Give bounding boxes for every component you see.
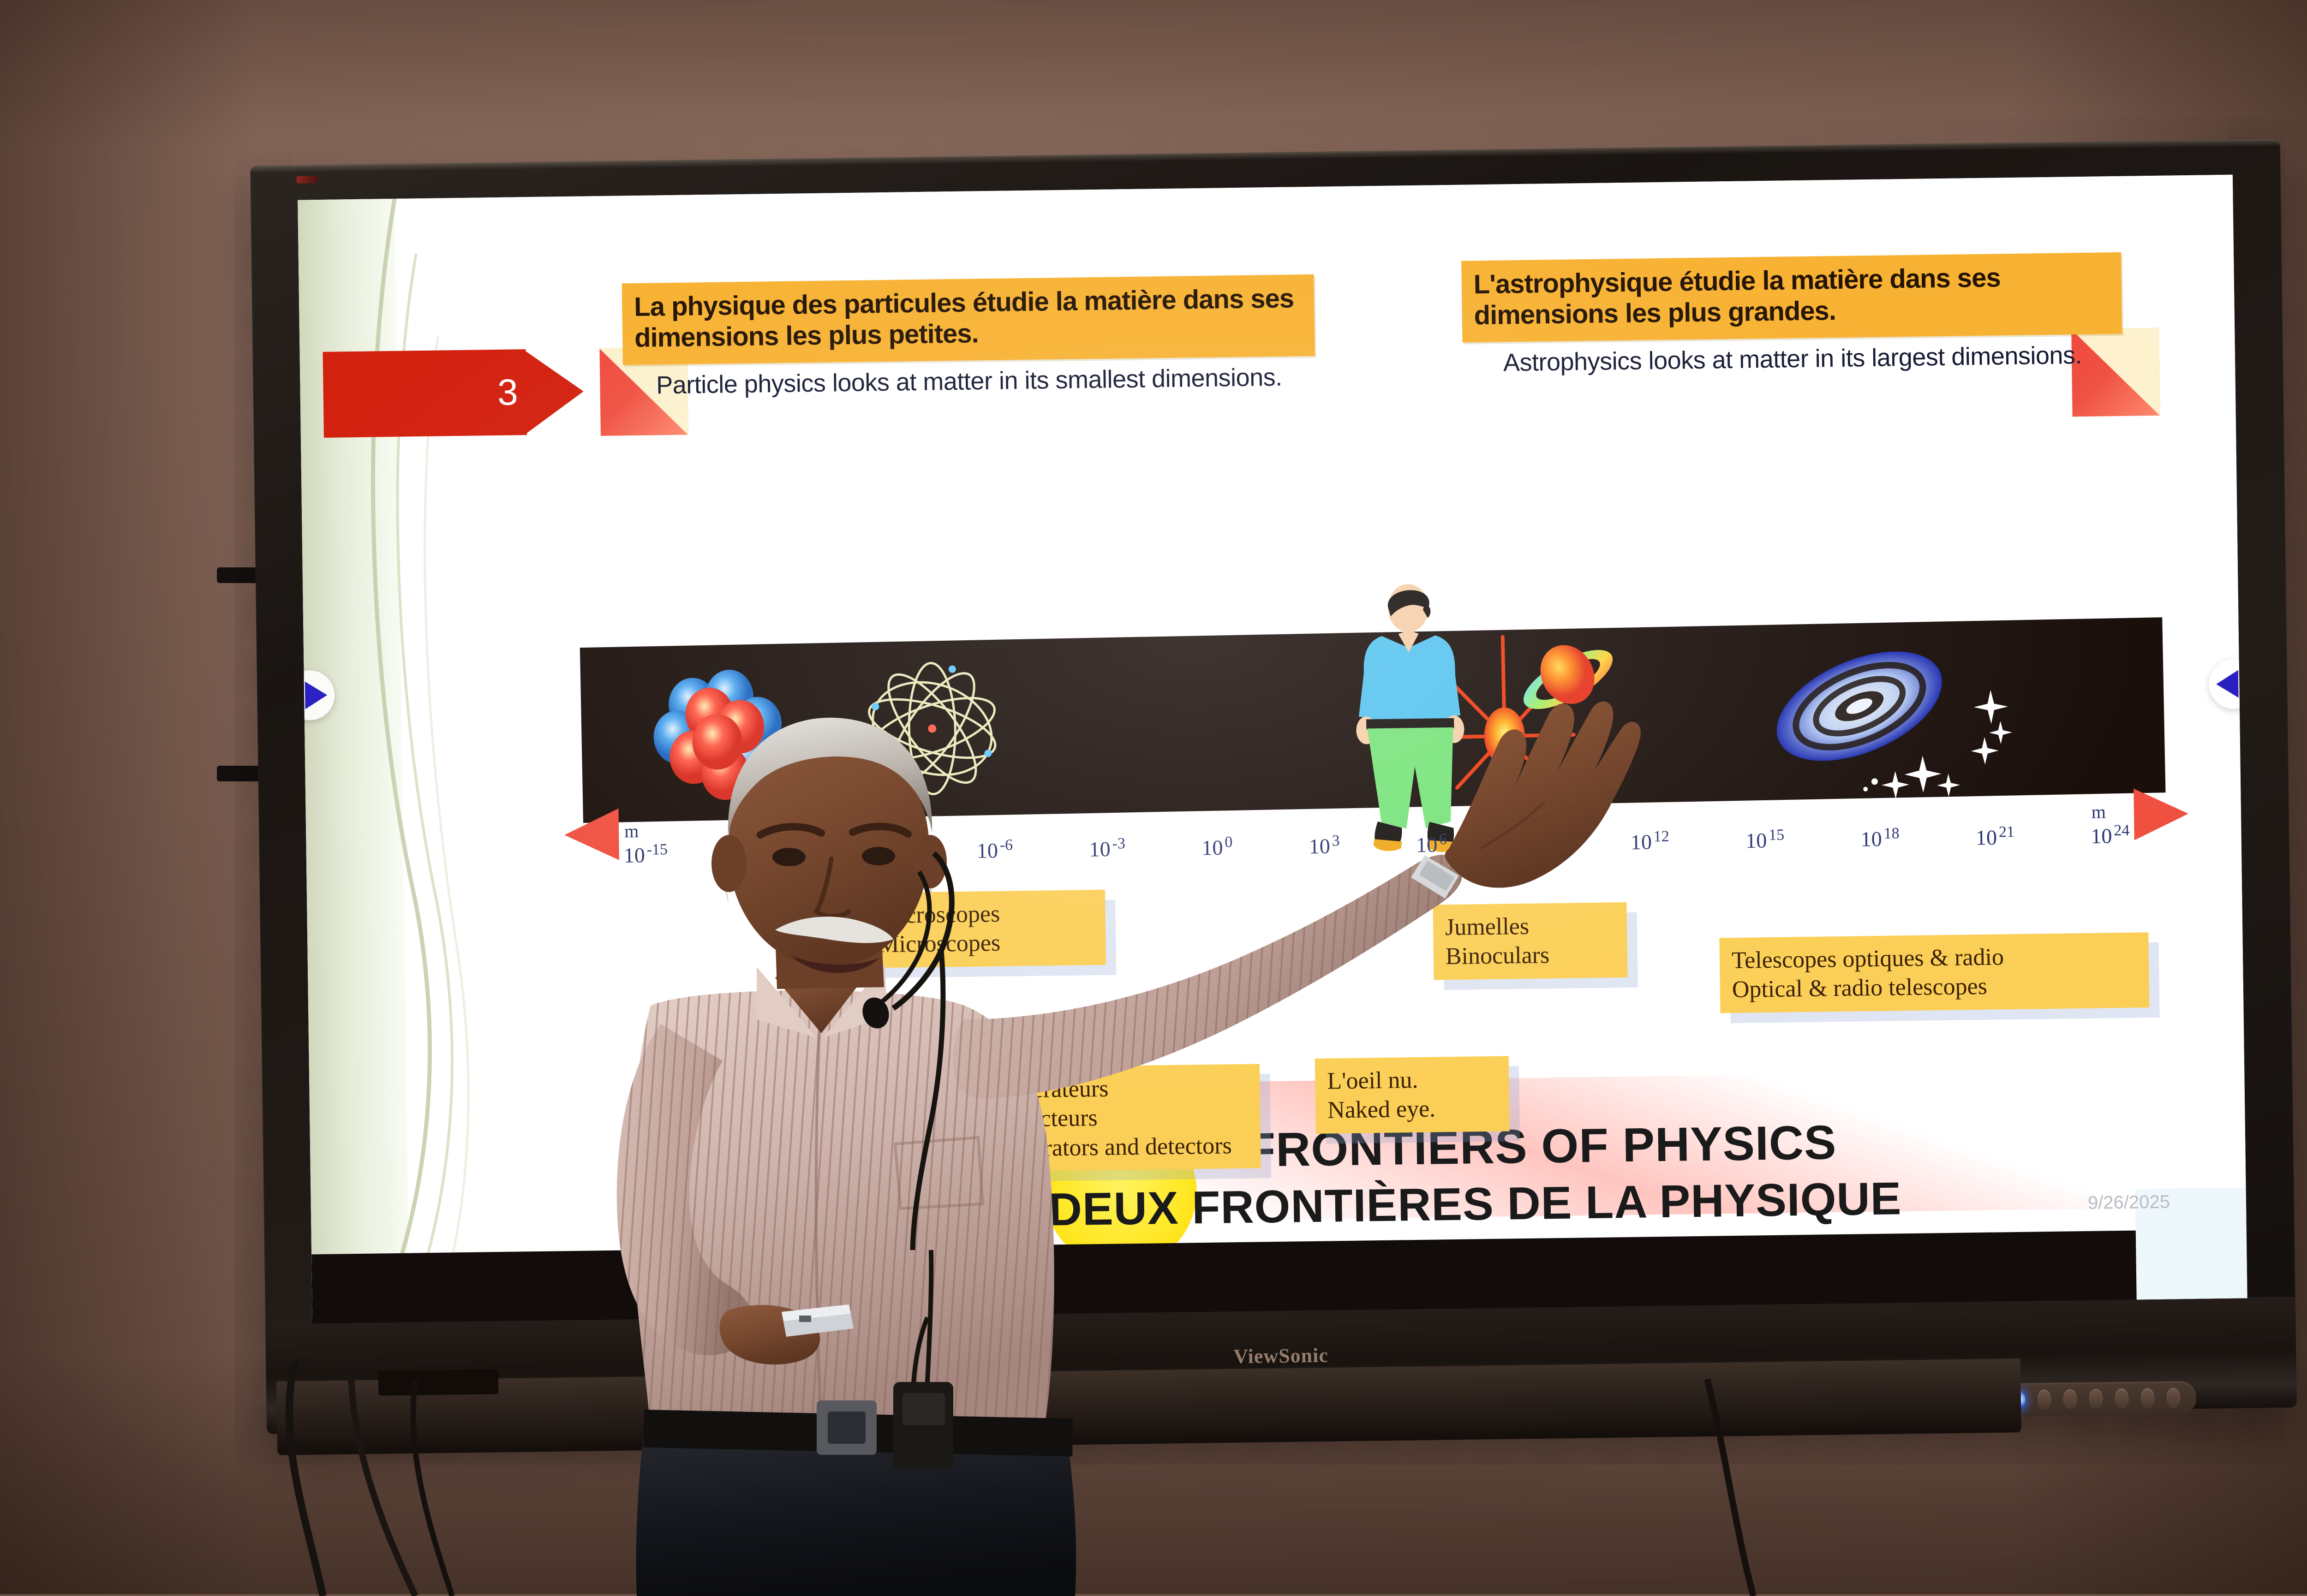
slide-number-banner: 3 <box>323 349 582 438</box>
play-arrow-left-icon <box>2216 670 2239 698</box>
scale-tick: 1018 <box>1860 825 1900 858</box>
presenter-hand <box>1445 702 1641 888</box>
heading-astrophysics: L'astrophysique étudie la matière dans s… <box>1461 252 2122 378</box>
play-arrow-right-icon <box>305 681 328 709</box>
heading-left-english: Particle physics looks at matter in its … <box>623 362 1315 400</box>
caption-telescopes: Telescopes optiques & radio Optical & ra… <box>1719 932 2149 1013</box>
scale-unit-right: m <box>2091 801 2106 822</box>
heading-left-french: La physique des particules étudie la mat… <box>622 274 1315 365</box>
heading-particle-physics: La physique des particules étudie la mat… <box>622 274 1315 401</box>
bezel-indicator-label <box>296 176 317 184</box>
presenter-pointing-arm <box>953 702 1641 1099</box>
presenter-person <box>498 655 1772 1596</box>
heading-right-french: L'astrophysique étudie la matière dans s… <box>1461 252 2122 342</box>
spiral-galaxy-icon <box>1761 629 1958 783</box>
wall-shadow-top <box>0 0 2307 148</box>
slide-date: 9/26/2025 <box>2088 1192 2170 1214</box>
room-background: 3 La physique des particules étudie la m… <box>0 0 2307 1594</box>
slide-number-arrow-tip <box>523 349 584 435</box>
slide-number-bar <box>323 349 526 438</box>
heading-right-english: Astrophysics looks at matter in its larg… <box>1463 340 2123 378</box>
caption-fr: Telescopes optiques & radio <box>1732 941 2137 976</box>
scale-arrow-right-icon <box>2134 788 2188 840</box>
scale-tick: 1021 <box>1976 823 2015 856</box>
slide-number-value: 3 <box>497 371 519 414</box>
presenter-head <box>711 718 947 989</box>
scale-tick: m1024 <box>2091 822 2130 854</box>
caption-en: Optical & radio telescopes <box>1732 970 2137 1005</box>
